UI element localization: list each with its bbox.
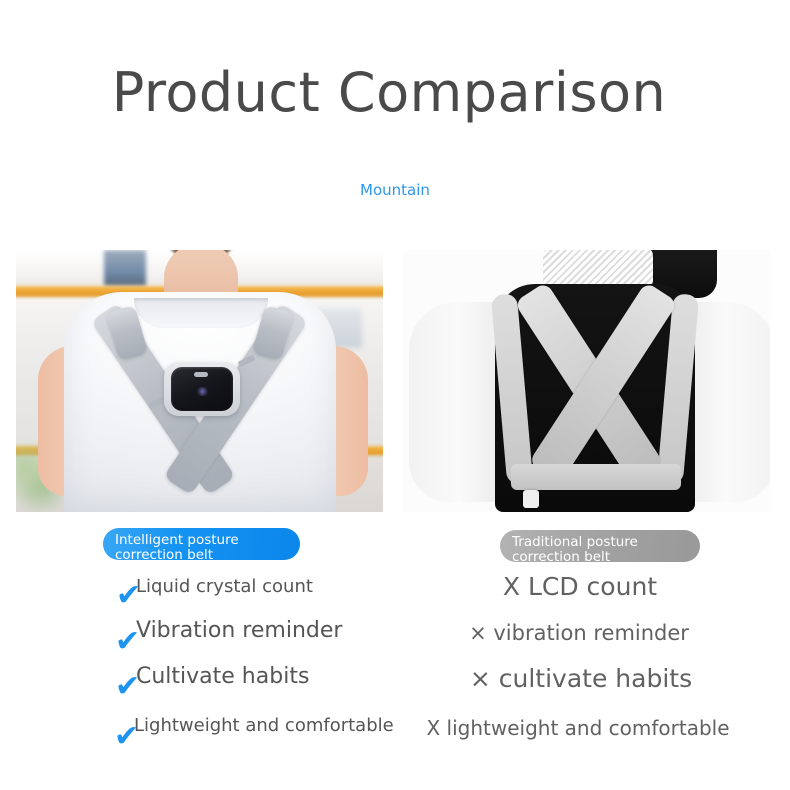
bw-brace-clip [523, 490, 539, 508]
bw-brace-waist-band [511, 464, 681, 490]
photo-scene-right [403, 250, 770, 512]
missing-feature-cultivate-habits: × cultivate habits [0, 664, 790, 693]
tshirt-collar [134, 298, 268, 328]
product-comparison-page: Product Comparison Mountain [0, 0, 790, 790]
brand-subtitle: Mountain [0, 180, 790, 200]
device-indicator-icon [196, 387, 209, 396]
device-speaker-slot [194, 372, 208, 377]
product-photo-traditional-belt [403, 250, 770, 512]
page-title: Product Comparison [0, 62, 790, 124]
badge-traditional-posture-correction-belt: Traditional posture correction belt [500, 530, 700, 562]
product-photo-intelligent-belt [16, 250, 383, 512]
missing-feature-lcd-count: X LCD count [0, 572, 790, 601]
missing-feature-vibration-reminder: × vibration reminder [0, 621, 790, 645]
shelf-book-a [104, 250, 146, 286]
photo-scene-left [16, 250, 383, 512]
missing-feature-lightweight-and-comfortable: X lightweight and comfortable [0, 716, 790, 740]
badge-intelligent-posture-correction-belt: Intelligent posture correction belt [103, 528, 300, 560]
